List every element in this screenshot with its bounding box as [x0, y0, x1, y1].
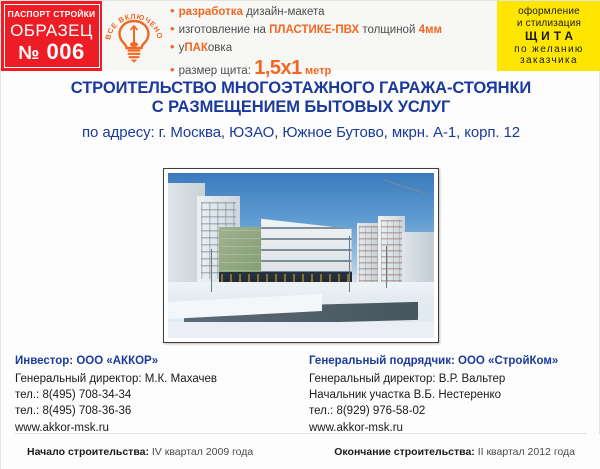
feature-item-material: • изготовление на ПЛАСТИКЕ-ПВХ толщиной …: [170, 22, 497, 37]
construction-photo-frame: [163, 168, 439, 343]
sample-word: ОБРАЗЕЦ: [10, 22, 93, 39]
note-line-1: оформление: [518, 6, 580, 18]
construction-photo: [168, 173, 434, 338]
contractor-column: Генеральный подрядчик: ООО «СтройКом» Ге…: [301, 353, 587, 436]
number-sign: №: [18, 43, 40, 64]
bullet-icon: •: [170, 4, 175, 17]
feature-text: овка: [208, 42, 232, 54]
sample-number-block: ПАСПОРТ СТРОЙКИ ОБРАЗЕЦ № 006: [1, 1, 102, 71]
note-line-4: по желанию: [514, 44, 584, 56]
photo-pole-2: [349, 236, 350, 292]
customization-note-block: оформление и стилизация ЩИТА по желанию …: [497, 1, 600, 71]
contractor-site-manager: Начальник участка В.Б. Нестеренко: [309, 387, 587, 403]
photo-pole-1: [211, 249, 212, 292]
construction-sign-board: ПАСПОРТ СТРОЙКИ ОБРАЗЕЦ № 006 ВСЕ ВКЛЮЧЕ…: [0, 0, 600, 469]
header-band: ПАСПОРТ СТРОЙКИ ОБРАЗЕЦ № 006 ВСЕ ВКЛЮЧЕ…: [1, 1, 600, 71]
project-title-line-1: СТРОИТЕЛЬСТВО МНОГОЭТАЖНОГО ГАРАЖА-СТОЯН…: [11, 79, 591, 98]
lightbulb-icon: ВСЕ ВКЛЮЧЕНО: [104, 3, 164, 67]
photo-snowbank-foreground: [168, 322, 434, 339]
contractor-phone: тел.: 8(929) 976-58-02: [309, 403, 587, 419]
bullet-icon: •: [170, 40, 175, 53]
feature-accent-2: 4мм: [419, 24, 442, 36]
feature-item-packaging: • уПАКовка: [170, 40, 497, 55]
investor-heading: Инвестор: ООО «АККОР»: [15, 353, 301, 371]
investor-phone-2: тел.: 8(495) 708-36-36: [15, 403, 301, 419]
construction-end: Окончание строительства: II квартал 2012…: [301, 446, 575, 458]
footer-dates: Начало строительства: IV квартал 2009 го…: [1, 434, 600, 469]
bullet-icon: •: [170, 22, 175, 35]
investor-column: Инвестор: ООО «АККОР» Генеральный директ…: [15, 353, 301, 436]
contractor-heading: Генеральный подрядчик: ООО «СтройКом»: [309, 353, 587, 371]
note-line-2: и стилизация: [517, 18, 581, 30]
feature-text: дизайн-макета: [243, 6, 325, 18]
end-value: II квартал 2012 года: [475, 446, 575, 458]
investor-director: Генеральный директор: М.К. Махачев: [15, 371, 301, 387]
feature-item-design: • разработка дизайн-макета: [170, 4, 497, 19]
title-block: СТРОИТЕЛЬСТВО МНОГОЭТАЖНОГО ГАРАЖА-СТОЯН…: [1, 71, 600, 142]
features-list: • разработка дизайн-макета • изготовлени…: [166, 1, 497, 71]
feature-mid: толщиной: [359, 24, 418, 36]
feature-accent: ПЛАСТИКЕ-ПВХ: [269, 24, 359, 36]
contractor-director: Генеральный директор: В.Р. Вальтер: [309, 371, 587, 387]
feature-accent: разработка: [179, 6, 243, 18]
investor-phone-1: тел.: 8(495) 708-34-34: [15, 387, 301, 403]
note-line-5: заказчика: [520, 55, 578, 67]
note-line-shield: ЩИТА: [521, 29, 577, 43]
all-included-logo: ВСЕ ВКЛЮЧЕНО: [102, 1, 166, 71]
feature-pre: изготовление на: [179, 24, 270, 36]
contacts-section: Инвестор: ООО «АККОР» Генеральный директ…: [1, 353, 600, 436]
photo-building-right-2: [378, 216, 405, 289]
photo-pole-3: [386, 246, 387, 289]
start-label: Начало строительства:: [27, 446, 149, 458]
construction-start: Начало строительства: IV квартал 2009 го…: [27, 446, 301, 458]
number-value: 006: [47, 39, 85, 64]
project-address: по адресу: г. Москва, ЮЗАО, Южное Бутово…: [11, 124, 591, 142]
start-value: IV квартал 2009 года: [149, 446, 253, 458]
feature-accent: ПАК: [184, 42, 208, 54]
project-title-line-2: С РАЗМЕЩЕНИЕМ БЫТОВЫХ УСЛУГ: [11, 98, 591, 117]
end-label: Окончание строительства:: [334, 446, 475, 458]
sample-number: № 006: [18, 41, 85, 63]
photo-building-right-3: [402, 232, 434, 288]
sample-number-inner: ПАСПОРТ СТРОЙКИ ОБРАЗЕЦ № 006: [4, 4, 100, 68]
passport-kicker: ПАСПОРТ СТРОЙКИ: [8, 10, 96, 19]
